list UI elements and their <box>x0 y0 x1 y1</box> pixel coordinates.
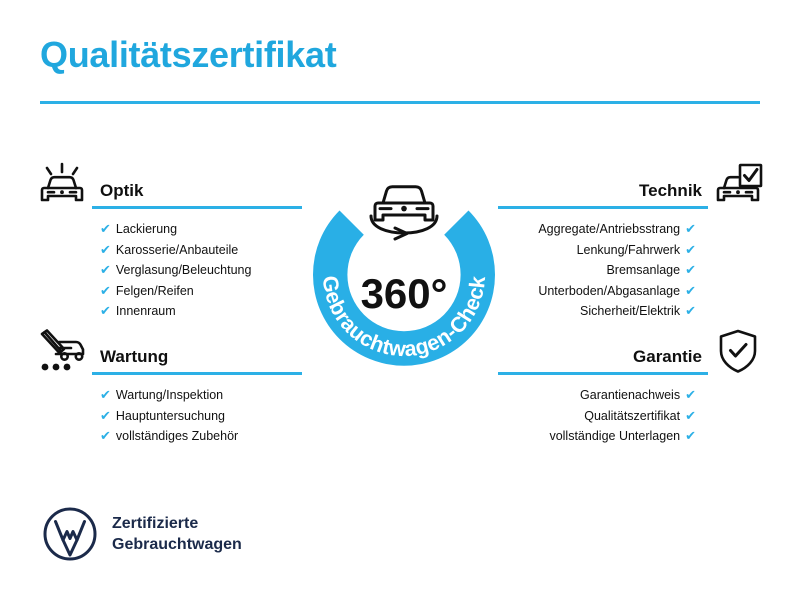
page-title: Qualitätszertifikat <box>40 34 336 76</box>
footer-brand-line1: Zertifizierte <box>112 513 242 534</box>
badge-center-label: 360° <box>361 270 448 317</box>
list-item: Qualitätszertifikat✔ <box>498 406 696 427</box>
list-item-label: Garantienachweis <box>580 386 680 406</box>
section-header-wartung: Wartung <box>32 324 302 376</box>
list-item-label: Wartung/Inspektion <box>116 386 223 406</box>
section-divider-optik <box>92 206 302 209</box>
section-technik: Technik Aggregate/Antriebsstrang✔ Lenkun… <box>498 158 768 322</box>
footer-brand: Zertifizierte Gebrauchtwagen <box>42 506 242 562</box>
section-title-garantie: Garantie <box>498 348 708 372</box>
list-item-label: Karosserie/Anbauteile <box>116 241 238 261</box>
list-item-label: vollständiges Zubehör <box>116 427 238 447</box>
certificate-page: Qualitätszertifikat Optik <box>0 0 800 600</box>
section-optik: Optik ✔Lackierung ✔Karosserie/Anbauteile… <box>32 158 302 322</box>
list-item-label: Bremsanlage <box>606 261 680 281</box>
check-icon: ✔ <box>685 301 696 321</box>
car-shine-icon <box>32 160 92 210</box>
list-item: Bremsanlage✔ <box>498 260 696 281</box>
section-header-garantie: Garantie <box>498 324 768 376</box>
list-item: ✔vollständiges Zubehör <box>100 426 302 447</box>
check-icon: ✔ <box>685 426 696 446</box>
list-item: ✔Hauptuntersuchung <box>100 406 302 427</box>
section-title-wartung: Wartung <box>92 348 302 372</box>
section-title-wrap-wartung: Wartung <box>92 348 302 376</box>
check-icon: ✔ <box>685 385 696 405</box>
list-item: vollständige Unterlagen✔ <box>498 426 696 447</box>
list-item: Aggregate/Antriebsstrang✔ <box>498 219 696 240</box>
section-title-wrap-garantie: Garantie <box>498 348 708 376</box>
checklist-wartung: ✔Wartung/Inspektion ✔Hauptuntersuchung ✔… <box>32 376 302 447</box>
check-icon: ✔ <box>685 260 696 280</box>
check-icon: ✔ <box>685 240 696 260</box>
shield-check-icon <box>708 326 768 376</box>
list-item: ✔Lackierung <box>100 219 302 240</box>
section-title-wrap-technik: Technik <box>498 182 708 210</box>
list-item-label: Hauptuntersuchung <box>116 407 225 427</box>
check-icon: ✔ <box>100 240 111 260</box>
list-item-label: Aggregate/Antriebsstrang <box>538 220 680 240</box>
check-icon: ✔ <box>100 281 111 301</box>
checklist-technik: Aggregate/Antriebsstrang✔ Lenkung/Fahrwe… <box>498 210 768 322</box>
section-divider-technik <box>498 206 708 209</box>
volkswagen-logo <box>42 506 98 562</box>
list-item-label: Sicherheit/Elektrik <box>580 302 680 322</box>
list-item-label: vollständige Unterlagen <box>549 427 680 447</box>
checklist-optik: ✔Lackierung ✔Karosserie/Anbauteile ✔Verg… <box>32 210 302 322</box>
list-item: ✔Karosserie/Anbauteile <box>100 240 302 261</box>
list-item: ✔Wartung/Inspektion <box>100 385 302 406</box>
check-icon: ✔ <box>685 406 696 426</box>
section-divider-garantie <box>498 372 708 375</box>
footer-brand-text: Zertifizierte Gebrauchtwagen <box>112 513 242 555</box>
car-rotate-icon <box>371 187 437 239</box>
check-icon: ✔ <box>685 281 696 301</box>
section-header-optik: Optik <box>32 158 302 210</box>
list-item: Garantienachweis✔ <box>498 385 696 406</box>
section-garantie: Garantie Garantienachweis✔ Qualitätszert… <box>498 324 768 447</box>
section-title-wrap-optik: Optik <box>92 182 302 210</box>
list-item-label: Felgen/Reifen <box>116 282 194 302</box>
checklist-garantie: Garantienachweis✔ Qualitätszertifikat✔ v… <box>498 376 768 447</box>
header-divider <box>40 101 760 104</box>
list-item: Lenkung/Fahrwerk✔ <box>498 240 696 261</box>
section-title-optik: Optik <box>92 182 302 206</box>
section-title-technik: Technik <box>498 182 708 206</box>
list-item-label: Qualitätszertifikat <box>584 407 680 427</box>
check-icon: ✔ <box>100 301 111 321</box>
list-item-label: Lackierung <box>116 220 177 240</box>
list-item-label: Innenraum <box>116 302 176 322</box>
list-item-label: Verglasung/Beleuchtung <box>116 261 252 281</box>
list-item-label: Unterboden/Abgasanlage <box>538 282 680 302</box>
check-icon: ✔ <box>100 426 111 446</box>
car-checkbox-icon <box>708 160 768 210</box>
check-icon: ✔ <box>685 219 696 239</box>
list-item: ✔Felgen/Reifen <box>100 281 302 302</box>
list-item: Sicherheit/Elektrik✔ <box>498 301 696 322</box>
check-icon: ✔ <box>100 406 111 426</box>
check-icon: ✔ <box>100 385 111 405</box>
section-wartung: Wartung ✔Wartung/Inspektion ✔Hauptunters… <box>32 324 302 447</box>
footer-brand-line2: Gebrauchtwagen <box>112 534 242 555</box>
check-icon: ✔ <box>100 260 111 280</box>
gebrauchtwagen-check-badge: Gebrauchtwagen-Check 360° <box>290 155 518 383</box>
list-item: ✔Verglasung/Beleuchtung <box>100 260 302 281</box>
list-item: Unterboden/Abgasanlage✔ <box>498 281 696 302</box>
section-divider-wartung <box>92 372 302 375</box>
section-header-technik: Technik <box>498 158 768 210</box>
list-item-label: Lenkung/Fahrwerk <box>577 241 681 261</box>
list-item: ✔Innenraum <box>100 301 302 322</box>
check-icon: ✔ <box>100 219 111 239</box>
service-pen-car-icon <box>32 326 92 376</box>
